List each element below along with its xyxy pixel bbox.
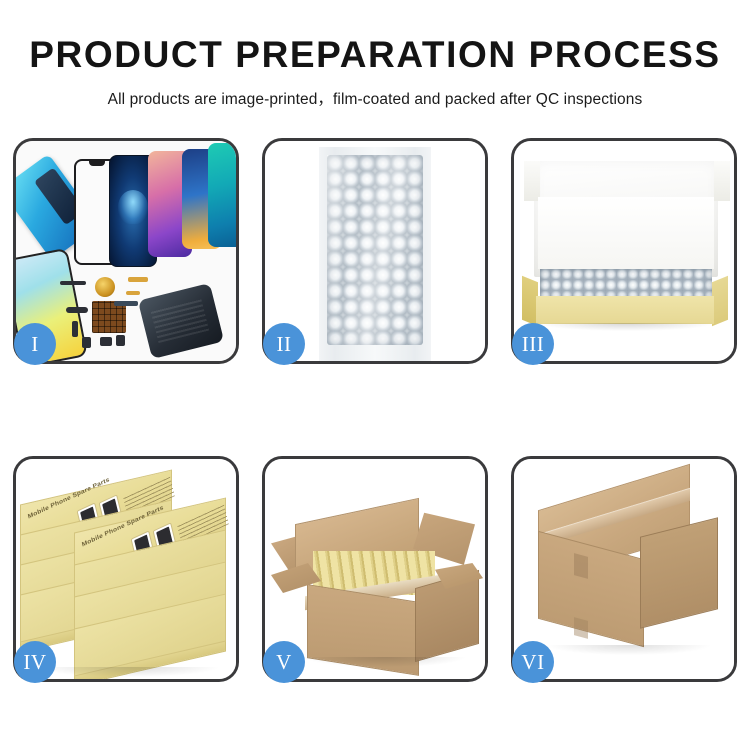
carton-seam-upper-icon: [574, 553, 588, 579]
box-lid-right-flap-icon: [714, 161, 730, 201]
sealed-carton-drop-shadow: [548, 645, 710, 655]
small-button-part-icon: [82, 337, 91, 348]
box-drop-shadow: [538, 323, 714, 331]
bubble-wrap-icon: [327, 155, 423, 345]
speaker-mesh-part-icon: [60, 281, 86, 285]
step-badge-6: VI: [512, 641, 554, 683]
step-badge-2: II: [263, 323, 305, 365]
carton-seam-lower-icon: [574, 617, 588, 639]
carton-drop-shadow: [305, 657, 465, 667]
process-step-panel-6: VI: [511, 456, 737, 682]
flex-cable-short-part-icon: [126, 291, 140, 295]
flex-cable-part-icon: [128, 277, 148, 282]
step-badge-3: III: [512, 323, 554, 365]
copper-coil-part-icon: [95, 277, 115, 297]
step-badge-5: V: [263, 641, 305, 683]
phone-teardown-backplate-icon: [138, 283, 224, 359]
step-badge-1: I: [14, 323, 56, 365]
box-stack: Mobile Phone Spare Parts: [16, 465, 236, 677]
sealed-carton-side-face-icon: [640, 517, 718, 628]
step-badge-4: IV: [14, 641, 56, 683]
infographic-page: PRODUCT PREPARATION PROCESS All products…: [0, 0, 750, 750]
process-panel-grid: I II III: [13, 138, 737, 682]
foam-padding-icon: [538, 197, 714, 269]
process-step-panel-4: Mobile Phone Spare Parts: [13, 456, 239, 682]
antenna-strip-part-icon: [114, 301, 138, 306]
header: PRODUCT PREPARATION PROCESS All products…: [0, 0, 750, 109]
stack-drop-shadow: [38, 667, 218, 677]
box-front-wall-icon: [536, 296, 714, 324]
phone-teal-screen-icon: [208, 143, 236, 247]
process-step-panel-1: I: [13, 138, 239, 364]
page-title: PRODUCT PREPARATION PROCESS: [0, 36, 750, 73]
screw-part-icon: [72, 321, 78, 337]
camera-module-part-icon: [100, 337, 112, 346]
bubble-wrapped-items-icon: [540, 269, 712, 299]
page-subtitle: All products are image-printed，film-coat…: [0, 87, 750, 109]
vibration-motor-part-icon: [116, 335, 125, 346]
process-step-panel-3: III: [511, 138, 737, 364]
box-lid-left-flap-icon: [524, 161, 540, 201]
process-step-panel-5: V: [262, 456, 488, 682]
flex-connector-part-icon: [66, 307, 88, 313]
process-step-panel-2: II: [262, 138, 488, 364]
box-right-wall-icon: [712, 276, 728, 326]
